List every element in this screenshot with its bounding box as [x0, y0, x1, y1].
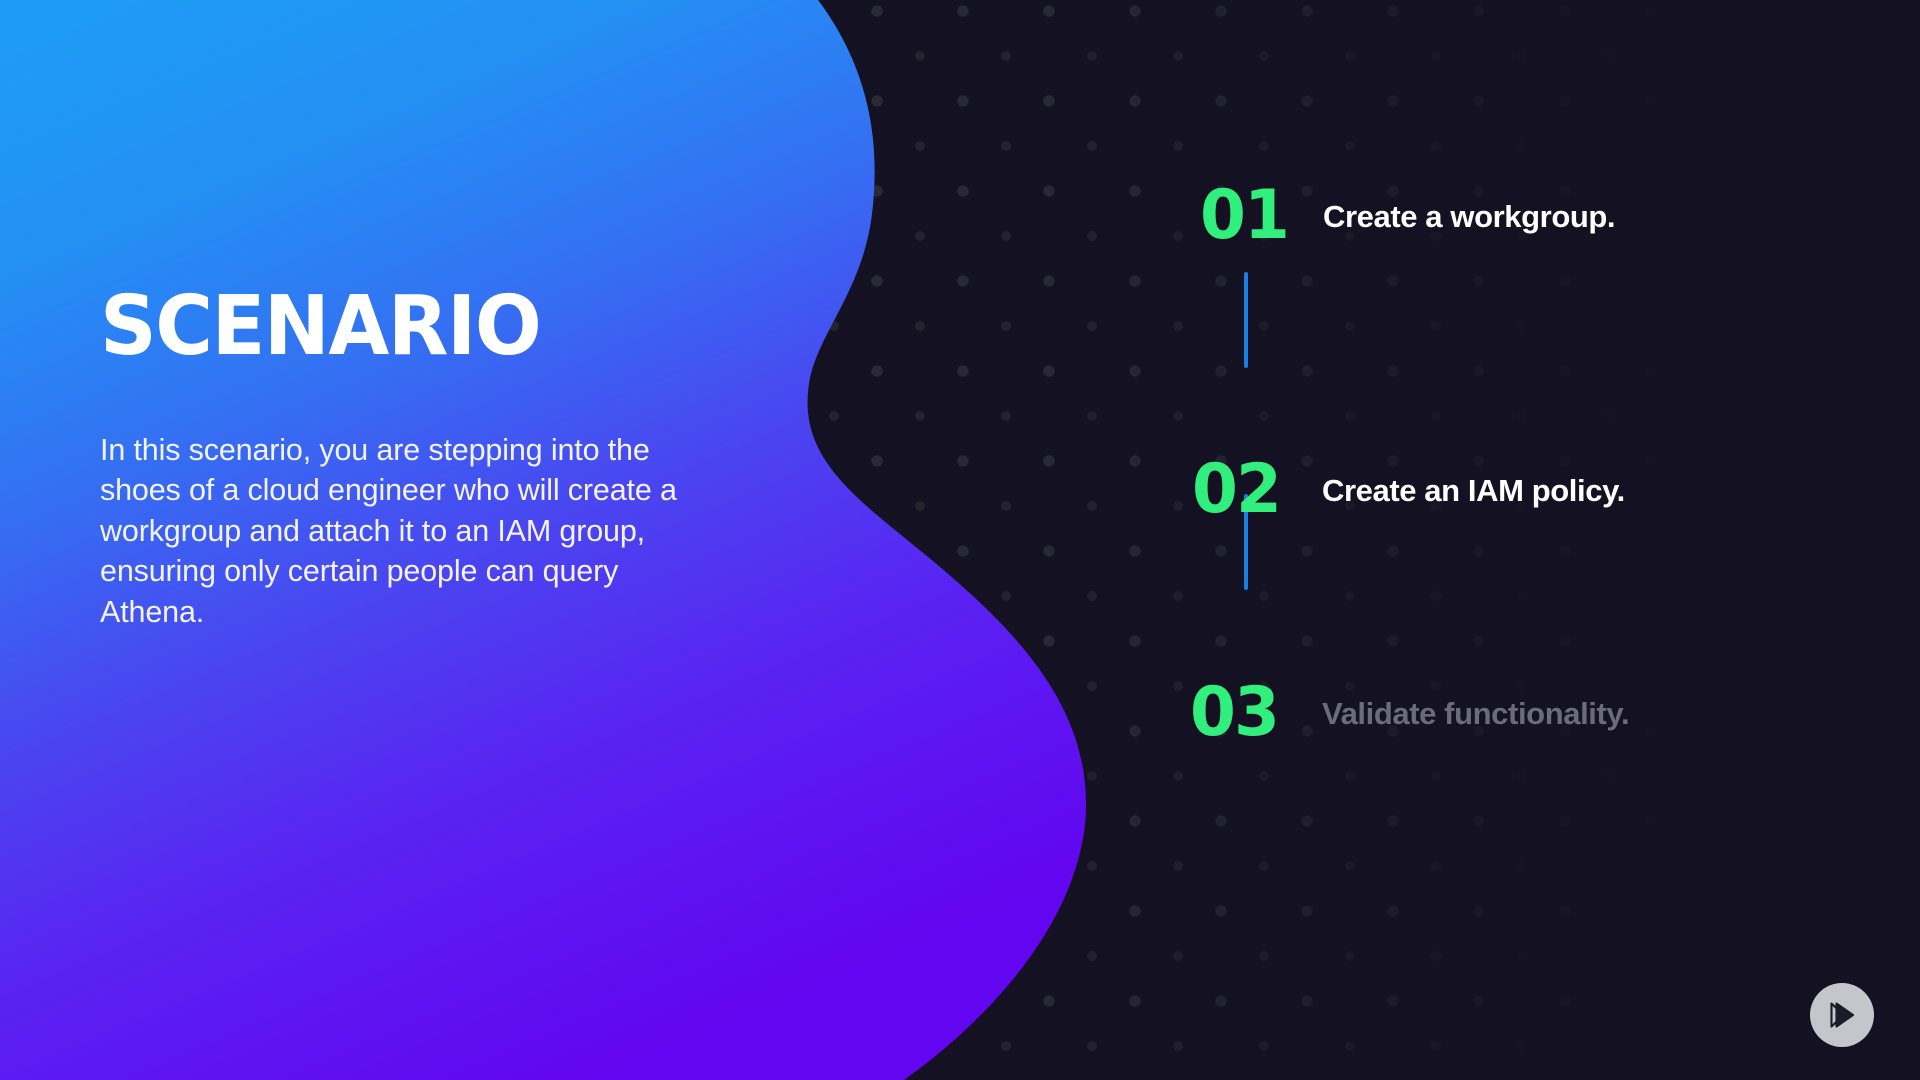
step-label-01: Create a workgroup. — [1323, 201, 1615, 232]
step-item-02[interactable]: 02 Create an IAM policy. — [1192, 442, 1625, 538]
play-badge-button[interactable] — [1810, 983, 1874, 1047]
scenario-description: In this scenario, you are stepping into … — [100, 430, 690, 632]
steps-list: 01 Create a workgroup. 02 Create an IAM … — [1190, 0, 1920, 1080]
step-number-03: 03 — [1190, 679, 1287, 747]
step-number-01: 01 — [1200, 182, 1297, 250]
slide-root: SCENARIO In this scenario, you are stepp… — [0, 0, 1920, 1080]
page-title: SCENARIO — [100, 286, 676, 368]
play-triangle-icon — [1825, 998, 1859, 1032]
step-label-03: Validate functionality. — [1322, 698, 1629, 729]
left-text-column: SCENARIO In this scenario, you are stepp… — [100, 286, 700, 632]
step-number-02: 02 — [1192, 456, 1289, 524]
step-item-03[interactable]: 03 Validate functionality. — [1190, 665, 1629, 761]
step-item-01[interactable]: 01 Create a workgroup. — [1200, 168, 1615, 264]
step-label-02: Create an IAM policy. — [1322, 475, 1625, 506]
